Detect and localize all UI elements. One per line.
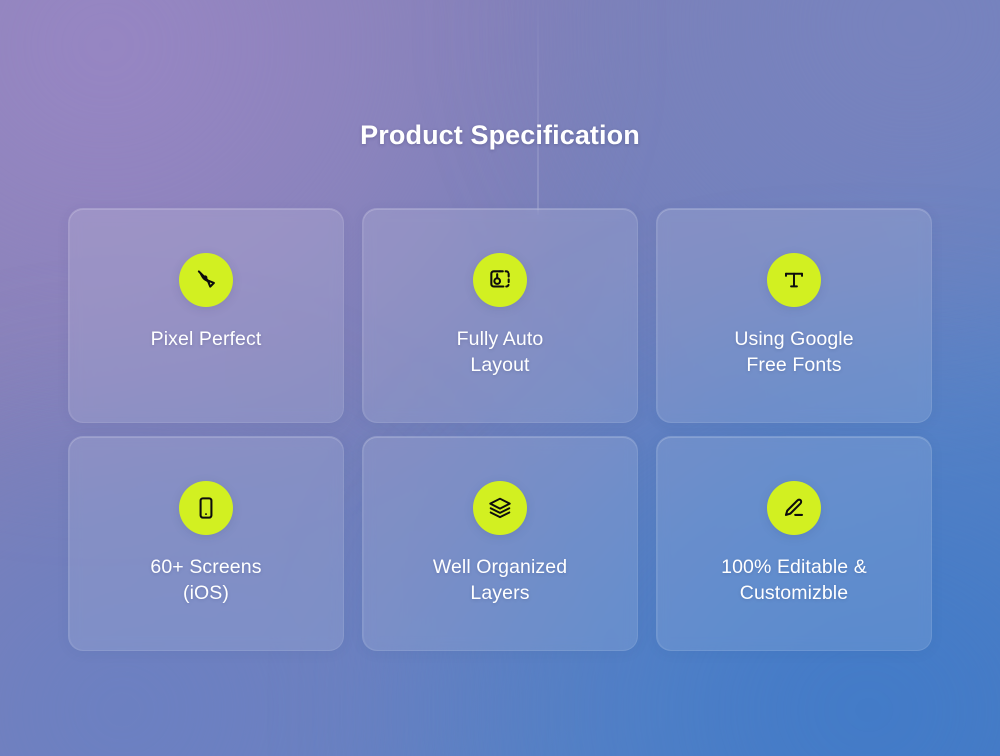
feature-card-60-plus-screens[interactable]: 60+ Screens (iOS) (68, 436, 344, 651)
feature-card-pixel-perfect[interactable]: Pixel Perfect (68, 208, 344, 423)
feature-card-well-organized-layers[interactable]: Well Organized Layers (362, 436, 638, 651)
feature-card-label: Using Google Free Fonts (720, 326, 867, 378)
feature-card-grid: Pixel Perfect Fully Auto Layout (68, 208, 932, 651)
pen-tool-icon (179, 253, 233, 307)
feature-card-label: Well Organized Layers (419, 554, 581, 606)
feature-card-label: 100% Editable & Customizble (707, 554, 881, 606)
pencil-edit-icon (767, 481, 821, 535)
feature-card-fully-auto-layout[interactable]: Fully Auto Layout (362, 208, 638, 423)
feature-card-label: Pixel Perfect (137, 326, 276, 352)
feature-card-label: Fully Auto Layout (443, 326, 558, 378)
feature-card-label: 60+ Screens (iOS) (136, 554, 275, 606)
feature-card-100-percent-editable[interactable]: 100% Editable & Customizble (656, 436, 932, 651)
typography-t-icon (767, 253, 821, 307)
page-content: Product Specification Pixel Perfect (0, 0, 1000, 756)
page-title: Product Specification (0, 120, 1000, 151)
feature-card-using-google-free-fonts[interactable]: Using Google Free Fonts (656, 208, 932, 423)
auto-layout-icon (473, 253, 527, 307)
smartphone-icon (179, 481, 233, 535)
layers-icon (473, 481, 527, 535)
